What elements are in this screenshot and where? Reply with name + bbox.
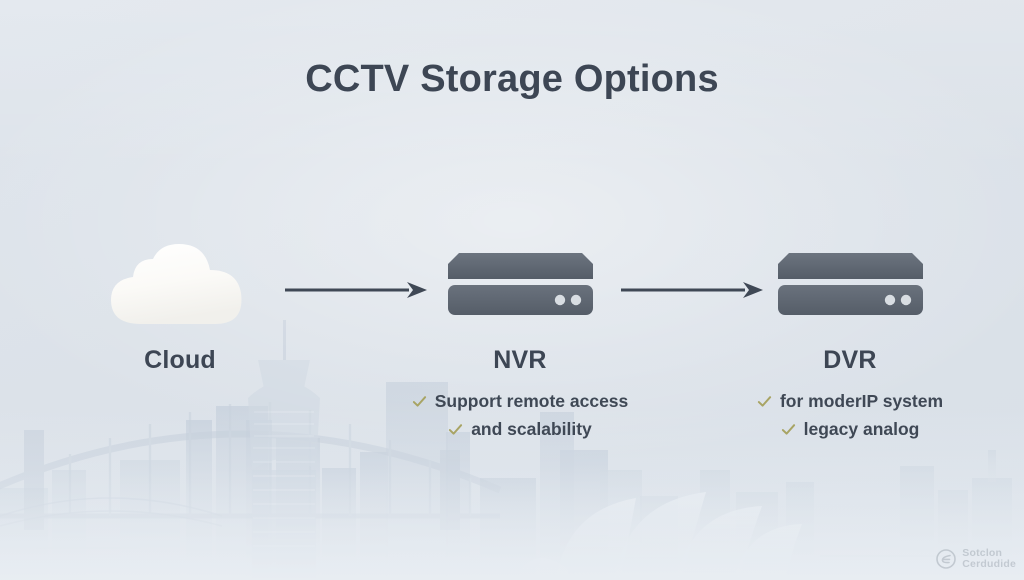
node-nvr-icon-slot	[370, 236, 670, 332]
recorder-icon	[773, 249, 928, 319]
bullet-text: and scalability	[471, 419, 592, 440]
bullet-text: for moderIP system	[780, 391, 943, 412]
node-nvr: NVR Support remote access and scalabilit…	[370, 236, 670, 440]
check-icon	[781, 422, 796, 437]
watermark-line-2: Cerdudide	[962, 559, 1016, 570]
bullet-item: for moderIP system	[757, 391, 943, 412]
recorder-icon	[443, 249, 598, 319]
bullet-item: legacy analog	[781, 419, 920, 440]
node-nvr-bullets: Support remote access and scalability	[370, 391, 670, 440]
node-nvr-label: NVR	[370, 346, 670, 375]
node-cloud-label: Cloud	[30, 346, 330, 375]
bullet-text: legacy analog	[804, 419, 920, 440]
node-cloud: Cloud	[30, 236, 330, 391]
watermark: Sotclon Cerdudide	[935, 548, 1016, 570]
node-dvr: DVR for moderIP system legacy analog	[700, 236, 1000, 440]
check-icon	[412, 394, 427, 409]
watermark-logo-icon	[935, 548, 957, 570]
node-cloud-icon-slot	[30, 236, 330, 332]
node-dvr-icon-slot	[700, 236, 1000, 332]
node-dvr-label: DVR	[700, 346, 1000, 375]
page-title: CCTV Storage Options	[0, 58, 1024, 101]
cloud-icon	[105, 238, 255, 330]
check-icon	[757, 394, 772, 409]
bullet-text: Support remote access	[435, 391, 629, 412]
bullet-item: Support remote access	[412, 391, 629, 412]
node-dvr-bullets: for moderIP system legacy analog	[700, 391, 1000, 440]
infographic-canvas: CCTV Storage Options Cloud	[0, 0, 1024, 580]
bullet-item: and scalability	[448, 419, 592, 440]
check-icon	[448, 422, 463, 437]
